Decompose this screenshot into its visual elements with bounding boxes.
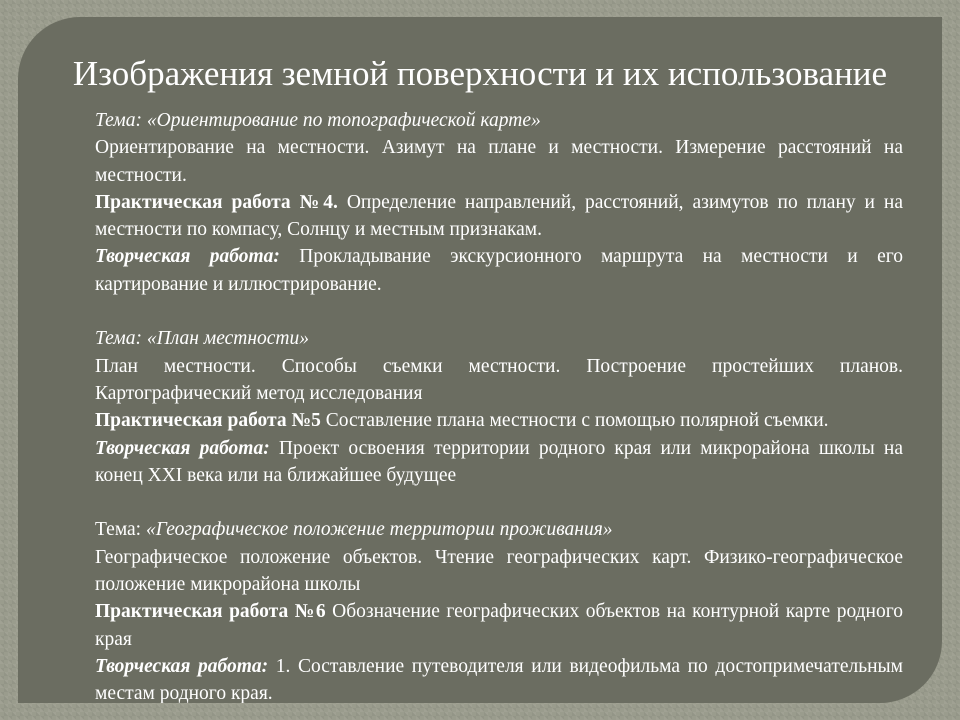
topic-label: Тема: bbox=[95, 110, 142, 131]
creative-work-label: Творческая работа: bbox=[95, 438, 270, 459]
topic-description: Ориентирование на местности. Азимут на п… bbox=[95, 134, 903, 189]
slide-body: Тема: «Ориентирование по топографической… bbox=[95, 107, 903, 703]
topic-title: «План местности» bbox=[147, 328, 309, 349]
page-title: Изображения земной поверхности и их испо… bbox=[54, 53, 906, 95]
practical-work-text: Составление плана местности с помощью по… bbox=[326, 410, 829, 431]
topic-description: План местности. Способы съемки местности… bbox=[95, 353, 903, 408]
topic-heading: Тема: «Ориентирование по топографической… bbox=[95, 107, 903, 134]
creative-work-spacer bbox=[270, 438, 279, 459]
practical-work: Практическая работа №6 Обозначение геогр… bbox=[95, 598, 903, 653]
content-panel: Изображения земной поверхности и их испо… bbox=[18, 17, 942, 703]
practical-work: Практическая работа №4. Определение напр… bbox=[95, 189, 903, 244]
slide: Изображения земной поверхности и их испо… bbox=[0, 0, 960, 720]
practical-work: Практическая работа №5 Составление плана… bbox=[95, 407, 903, 434]
creative-work-spacer bbox=[268, 656, 276, 677]
topic-heading: Тема: «Географическое положение территор… bbox=[95, 516, 903, 543]
creative-work-label: Творческая работа: bbox=[95, 656, 268, 677]
block-separator bbox=[95, 298, 903, 325]
topic-label: Тема: bbox=[95, 328, 142, 349]
topic-label: Тема: bbox=[95, 519, 141, 540]
practical-work-label: Практическая работа №5 bbox=[95, 410, 321, 431]
creative-work: Творческая работа: Прокладывание экскурс… bbox=[95, 243, 903, 298]
topic-heading: Тема: «План местности» bbox=[95, 325, 903, 352]
creative-work-spacer bbox=[280, 246, 299, 267]
practical-work-label: Практическая работа №4. bbox=[95, 192, 338, 213]
creative-work: Творческая работа: 1. Составление путево… bbox=[95, 653, 903, 703]
creative-work: Творческая работа: Проект освоения терри… bbox=[95, 435, 903, 490]
practical-work-spacer bbox=[338, 192, 347, 213]
creative-work-label: Творческая работа: bbox=[95, 246, 280, 267]
topic-title: «Ориентирование по топографической карте… bbox=[147, 110, 541, 131]
practical-work-label: Практическая работа №6 bbox=[95, 601, 326, 622]
topic-title: «Географическое положение территории про… bbox=[146, 519, 613, 540]
topic-description: Географическое положение объектов. Чтени… bbox=[95, 544, 903, 599]
block-separator bbox=[95, 489, 903, 516]
